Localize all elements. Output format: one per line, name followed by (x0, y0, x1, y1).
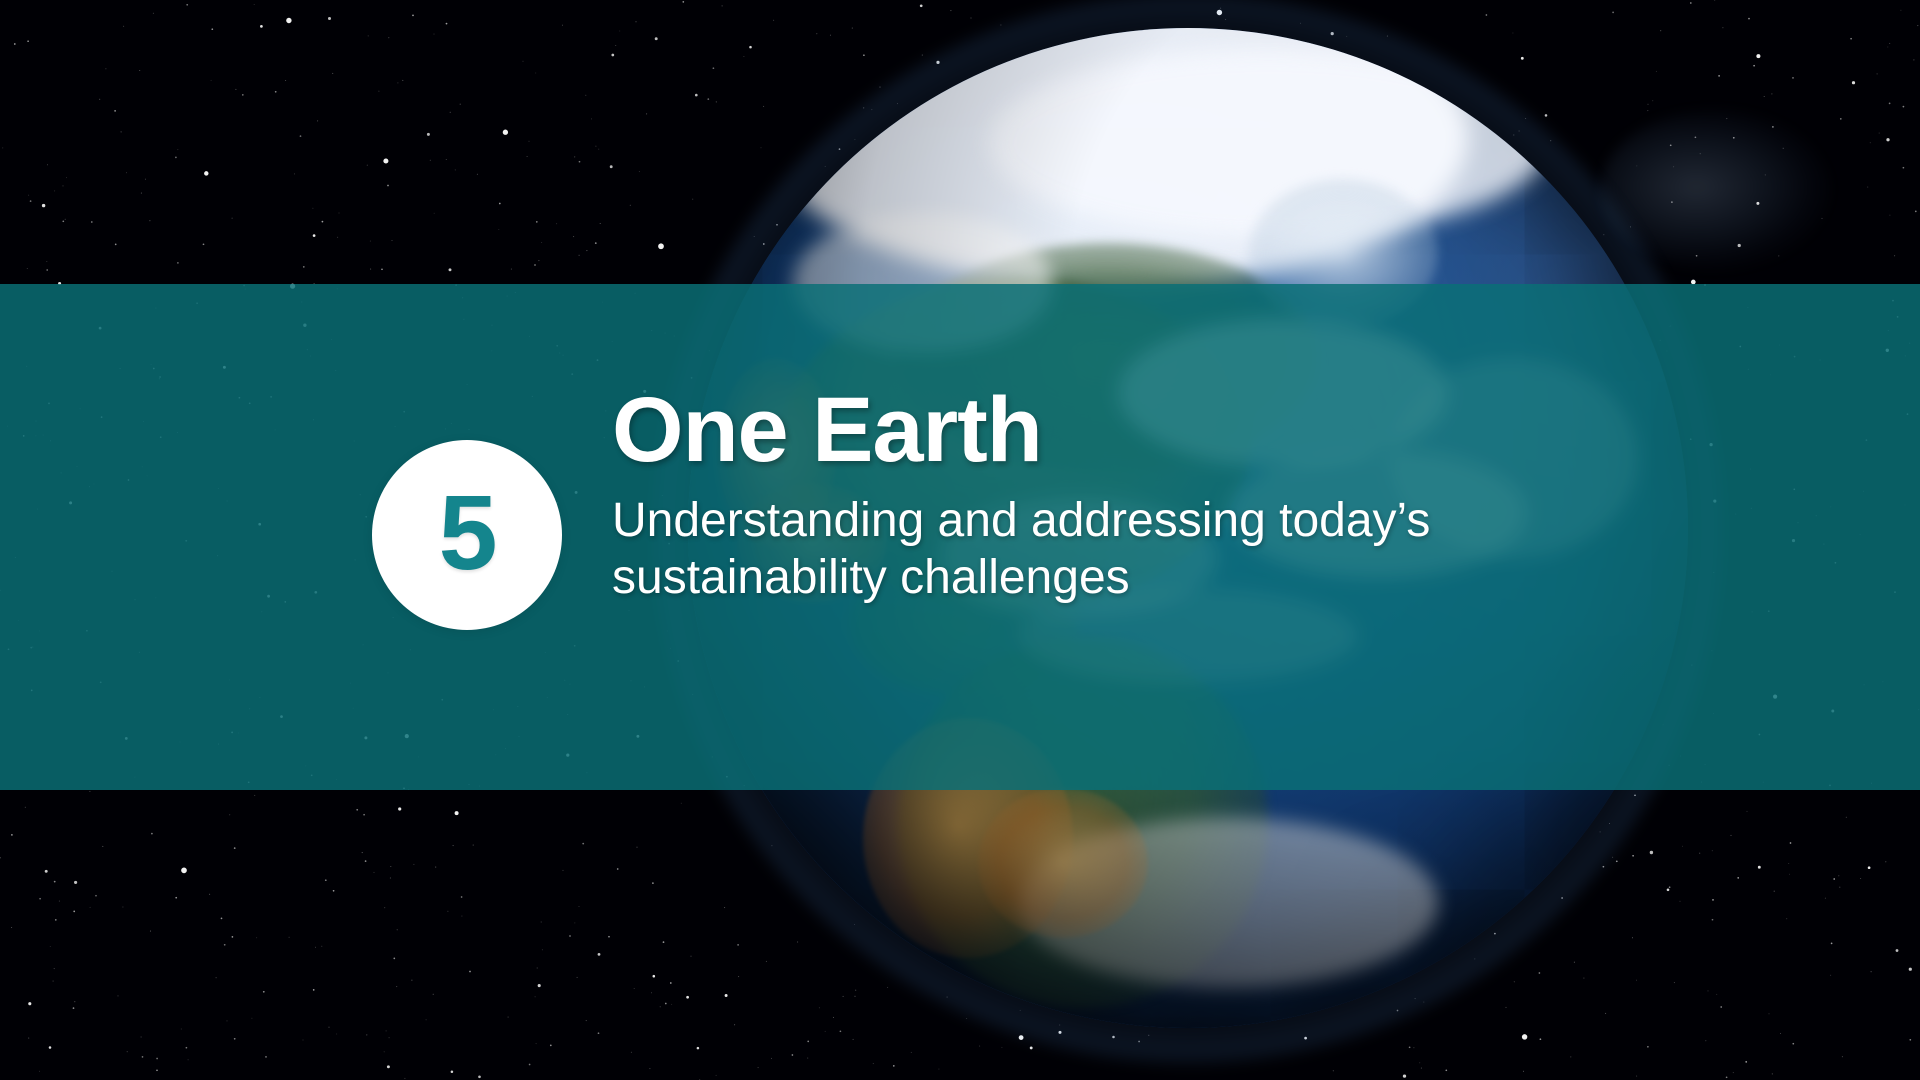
page-title: One Earth (612, 384, 1672, 478)
section-number: 5 (439, 480, 496, 586)
section-number-badge: 5 (372, 440, 562, 630)
slide-content: 5 One Earth Understanding and addressing… (0, 284, 1920, 790)
title-block: One Earth Understanding and addressing t… (612, 384, 1672, 606)
city-lights-brazil-coast (978, 788, 1148, 938)
slide-root: 5 One Earth Understanding and addressing… (0, 0, 1920, 1080)
page-subtitle: Understanding and addressing today’s sus… (612, 492, 1472, 606)
